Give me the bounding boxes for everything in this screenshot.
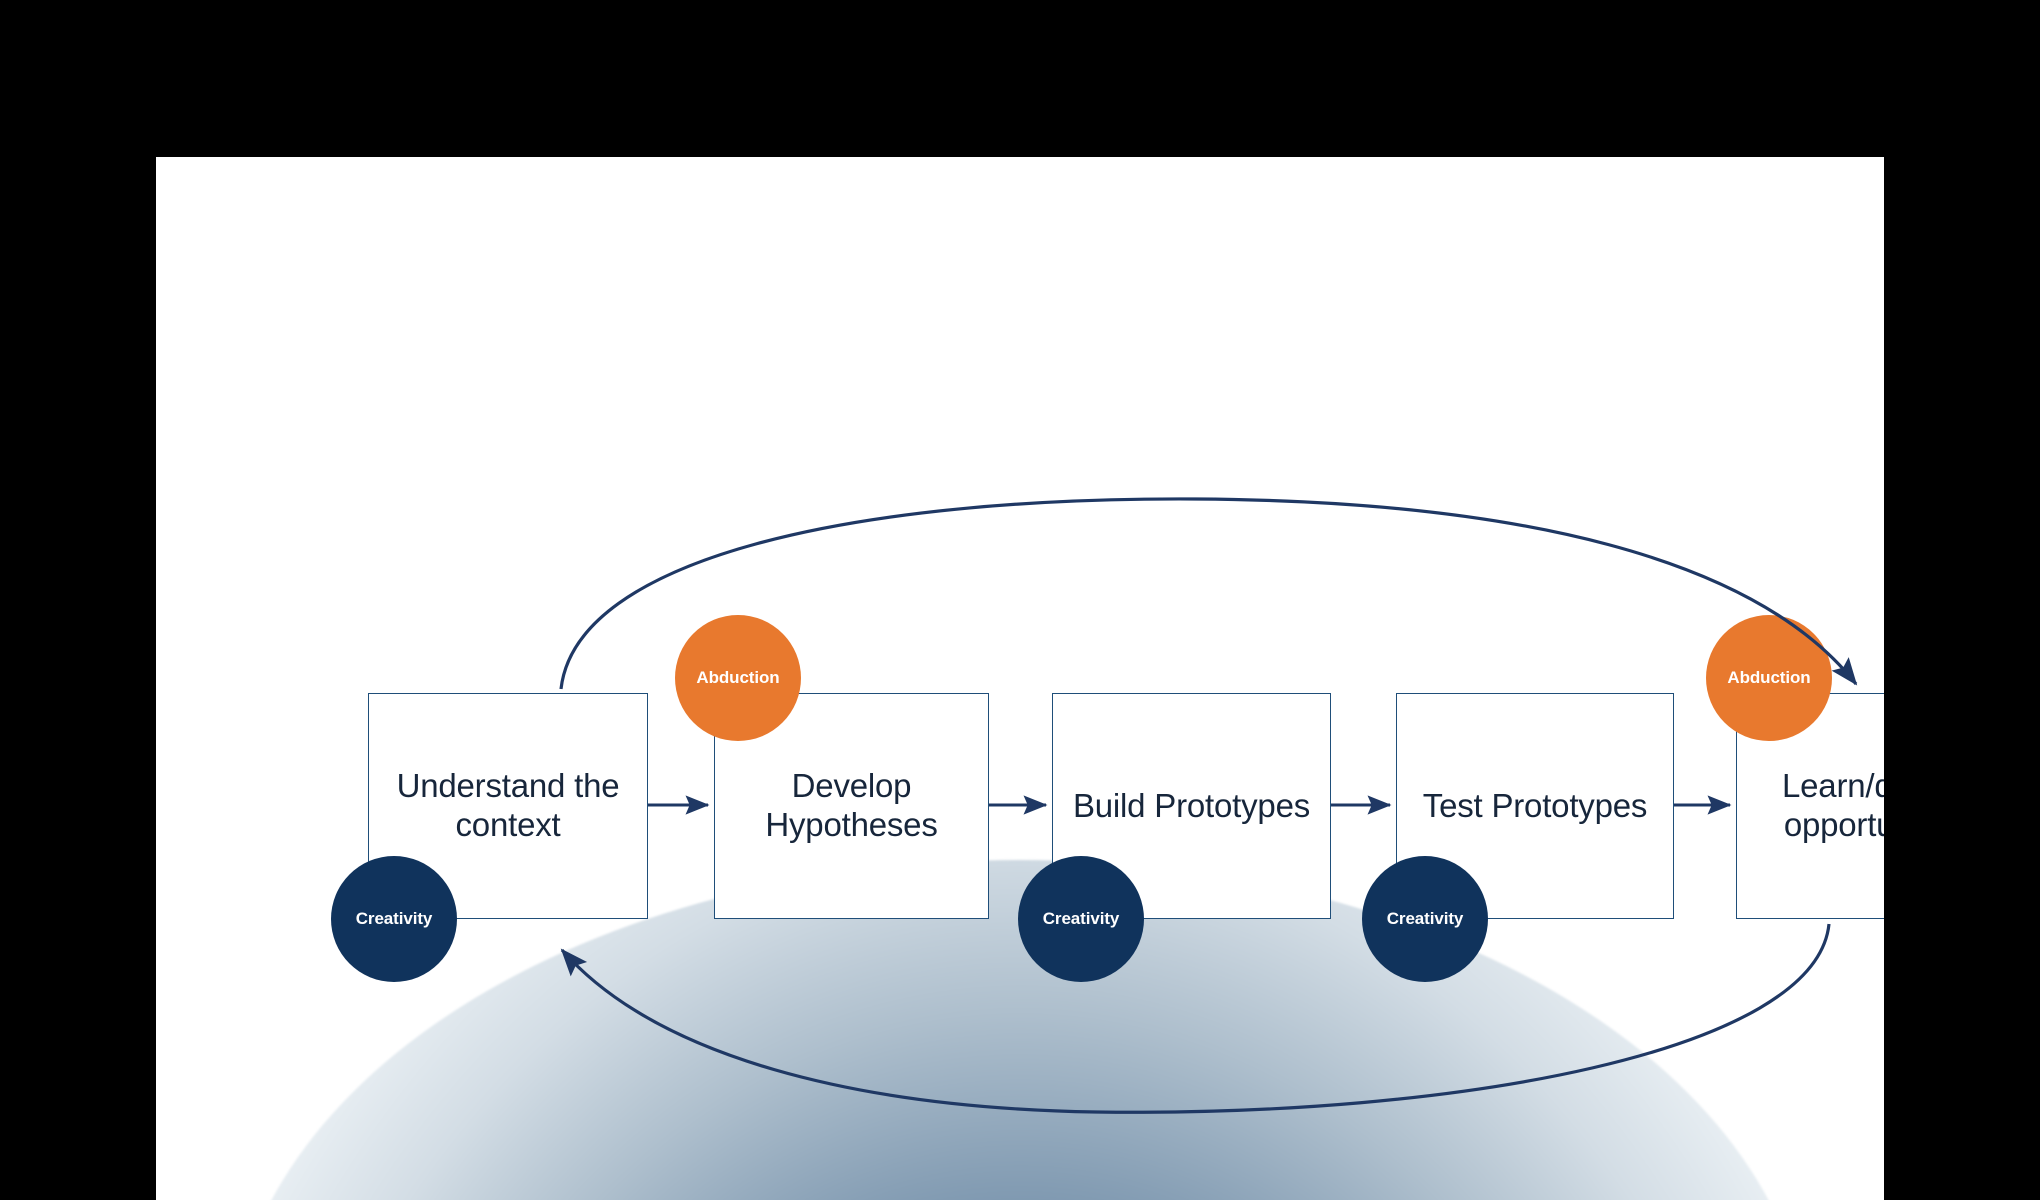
step-box-understand-the-context[interactable]: Understand the context [368,693,648,919]
arc-top-feedback [561,499,1856,689]
badge-circle-creativity-1[interactable]: Creativity [331,856,457,982]
step-box-label: Develop Hypotheses [715,767,988,845]
screenshot-canvas: Understand the context Develop Hypothese… [0,0,2040,1200]
badge-circle-abduction-2[interactable]: Abduction [1706,615,1832,741]
step-box-test-prototypes[interactable]: Test Prototypes [1396,693,1674,919]
badge-circle-label: Creativity [356,909,432,929]
step-box-label: Learn/de-risk opportunities [1737,767,1884,845]
top-arc-layer [156,157,1884,1200]
step-box-label: Build Prototypes [1073,787,1310,826]
badge-circle-label: Creativity [1043,909,1119,929]
badge-circle-abduction-1[interactable]: Abduction [675,615,801,741]
step-box-label: Test Prototypes [1423,787,1647,826]
connector-layer [156,157,1884,1200]
badge-circle-label: Abduction [696,668,779,688]
slide-surface: Understand the context Develop Hypothese… [156,157,1884,1200]
badge-circle-creativity-2[interactable]: Creativity [1018,856,1144,982]
step-box-layer: Understand the context Develop Hypothese… [156,157,1884,1200]
step-box-build-prototypes[interactable]: Build Prototypes [1052,693,1331,919]
badge-circle-label: Creativity [1387,909,1463,929]
arc-bottom-feedback [562,924,1829,1112]
step-box-label: Understand the context [369,767,647,845]
step-box-develop-hypotheses[interactable]: Develop Hypotheses [714,693,989,919]
step-box-learn-de-risk-opportunities[interactable]: Learn/de-risk opportunities [1736,693,1884,919]
process-flow-diagram: Understand the context Develop Hypothese… [156,157,1884,1200]
badge-circle-creativity-3[interactable]: Creativity [1362,856,1488,982]
badge-circle-label: Abduction [1727,668,1810,688]
badge-circle-layer: Creativity Abduction Creativity Creativi… [156,157,1884,1200]
